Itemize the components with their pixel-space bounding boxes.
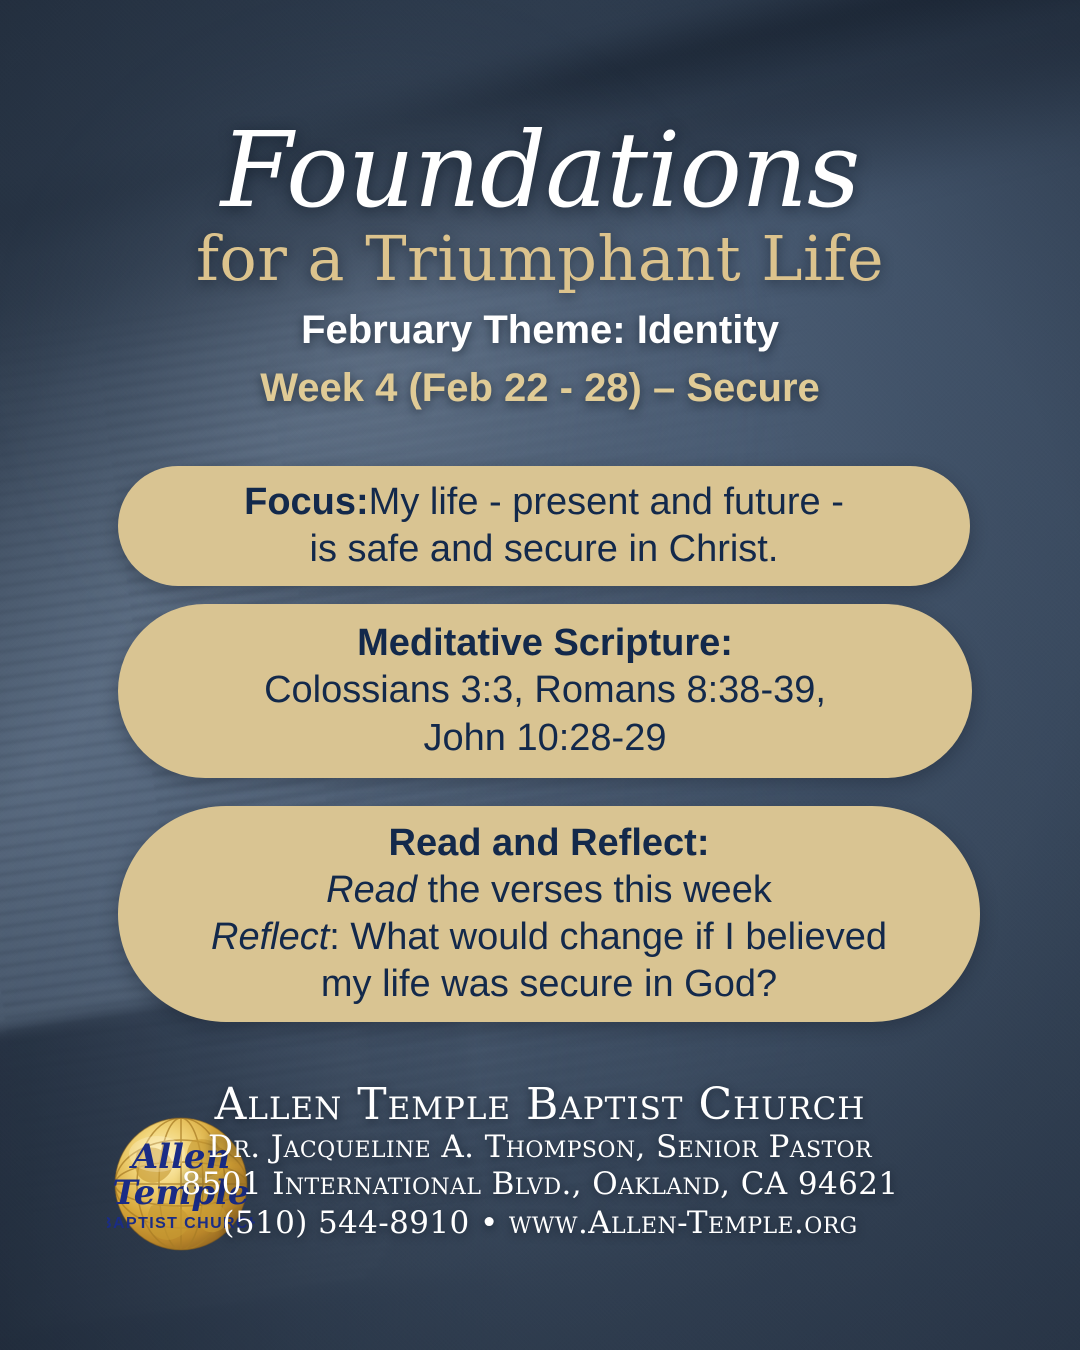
read-and-reflect-card: Read and Reflect: Read the verses this w…: [118, 806, 980, 1022]
church-name: Allen Temple Baptist Church: [0, 1082, 1080, 1129]
church-address: 8501 International Blvd., Oakland, CA 94…: [0, 1166, 1080, 1204]
poster-content: Foundations for a Triumphant Life Februa…: [0, 0, 1080, 1350]
website-link[interactable]: www.Allen-Temple.org: [509, 1205, 858, 1241]
phone-number[interactable]: (510) 544-8910: [222, 1205, 469, 1241]
poster-canvas: Foundations for a Triumphant Life Februa…: [0, 0, 1080, 1350]
reflect-heading: Read and Reflect:: [389, 820, 710, 867]
reflect-emphasis: Reflect: [211, 916, 329, 958]
page-title-script: Foundations: [0, 118, 1080, 222]
week-label: Week 4 (Feb 22 - 28) – Secure: [0, 366, 1080, 410]
focus-line-2: is safe and secure in Christ.: [310, 526, 779, 573]
church-contact: (510) 544-8910 • www.Allen-Temple.org: [0, 1204, 1080, 1243]
focus-heading: Focus:: [244, 481, 369, 523]
focus-text-1: My life - present and future -: [369, 481, 844, 523]
meditative-scripture-card: Meditative Scripture: Colossians 3:3, Ro…: [118, 604, 972, 778]
page-title-serif: for a Triumphant Life: [0, 228, 1080, 290]
reflect-line-1: Read the verses this week: [326, 867, 772, 914]
reflect-text: : What would change if I believed: [329, 916, 887, 958]
read-text: the verses this week: [417, 869, 772, 911]
read-emphasis: Read: [326, 869, 417, 911]
scripture-line-1: Colossians 3:3, Romans 8:38-39,: [264, 667, 826, 714]
reflect-line-3: my life was secure in God?: [321, 961, 777, 1008]
scripture-line-2: John 10:28-29: [424, 715, 667, 762]
footer-block: Allen Temple Baptist Church Dr. Jacqueli…: [0, 1082, 1080, 1243]
focus-line-1: Focus:My life - present and future -: [244, 479, 844, 526]
focus-card: Focus:My life - present and future - is …: [118, 466, 970, 586]
month-theme-label: February Theme: Identity: [0, 308, 1080, 352]
reflect-line-2: Reflect: What would change if I believed: [211, 914, 887, 961]
separator-dot: •: [480, 1205, 499, 1241]
scripture-heading: Meditative Scripture:: [357, 620, 733, 667]
pastor-name: Dr. Jacqueline A. Thompson, Senior Pasto…: [0, 1129, 1080, 1167]
